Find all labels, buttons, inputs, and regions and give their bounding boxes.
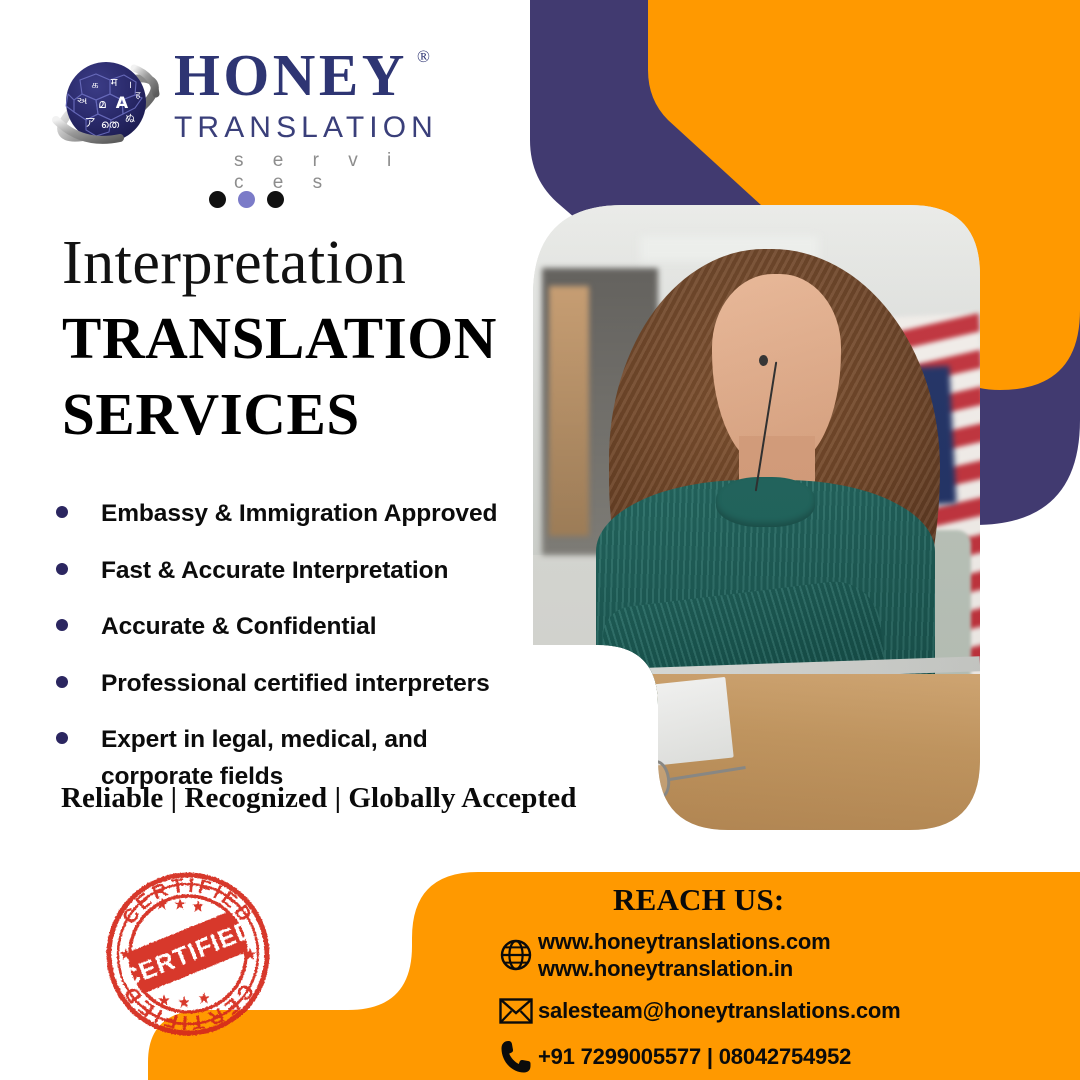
list-item: Fast & Accurate Interpretation (56, 553, 526, 590)
bullet-dot-icon (56, 732, 68, 744)
contact-email[interactable]: salesteam@honeytranslations.com (538, 997, 901, 1025)
contact-website-2[interactable]: www.honeytranslation.in (538, 956, 793, 981)
bullet-dot-icon (56, 506, 68, 518)
svg-text:ア: ア (85, 116, 96, 129)
svg-text:க: க (91, 78, 98, 91)
contact-details: www.honeytranslations.com www.honeytrans… (494, 928, 1054, 1080)
svg-text:म: म (111, 76, 118, 89)
contact-phone[interactable]: +91 7299005577 | 08042754952 (538, 1043, 851, 1071)
certified-stamp-icon: CERTIFIED CERTIFIED (102, 868, 274, 1040)
brand-logo[interactable]: க म । અ മ A ह ア തെ ぬ HONEY ® TRANSLATION… (52, 46, 412, 176)
decor-dot-1 (209, 191, 226, 208)
contact-website-block: www.honeytranslations.com www.honeytrans… (538, 928, 830, 983)
feature-list: Embassy & Immigration Approved Fast & Ac… (56, 496, 526, 795)
list-item: Accurate & Confidential (56, 609, 526, 646)
logo-line-translation: TRANSLATION (174, 110, 438, 145)
contact-row-email[interactable]: salesteam@honeytranslations.com (494, 996, 1054, 1026)
registered-trademark-icon: ® (417, 48, 430, 65)
svg-text:અ: અ (77, 96, 88, 107)
envelope-icon (494, 996, 538, 1026)
bullet-dot-icon (56, 563, 68, 575)
bullet-dot-icon (56, 676, 68, 688)
logo-brand-text: HONEY (174, 42, 408, 108)
phone-icon (494, 1039, 538, 1075)
list-item-label: Accurate & Confidential (101, 609, 376, 646)
logo-brand-name: HONEY ® (174, 46, 408, 105)
contact-row-website[interactable]: www.honeytranslations.com www.honeytrans… (494, 928, 1054, 983)
headline-script-line: Interpretation (62, 232, 497, 295)
tagline: Reliable | Recognized | Globally Accepte… (61, 782, 576, 815)
contact-row-phone[interactable]: +91 7299005577 | 08042754952 (494, 1039, 1054, 1075)
svg-text:തെ: തെ (101, 118, 120, 131)
list-item-label: Embassy & Immigration Approved (101, 496, 497, 533)
globe-languages-icon: க म । અ മ A ह ア തെ ぬ (52, 50, 164, 162)
bullet-dot-icon (56, 619, 68, 631)
globe-icon (494, 937, 538, 973)
decor-dot-2 (238, 191, 255, 208)
svg-text:ぬ: ぬ (125, 113, 135, 125)
reach-us-heading: REACH US: (613, 882, 784, 918)
logo-line-services: s e r v i c e s (234, 150, 438, 194)
list-item-label: Professional certified interpreters (101, 666, 490, 703)
contact-website-1[interactable]: www.honeytranslations.com (538, 929, 830, 954)
list-item: Embassy & Immigration Approved (56, 496, 526, 533)
headline-bold-line-2: SERVICES (62, 381, 497, 447)
list-item-label: Fast & Accurate Interpretation (101, 553, 448, 590)
svg-text:A: A (116, 93, 129, 112)
svg-text:ह: ह (136, 91, 141, 101)
decor-dot-3 (267, 191, 284, 208)
svg-text:മ: മ (98, 97, 106, 111)
list-item: Professional certified interpreters (56, 666, 526, 703)
headline-block: Interpretation TRANSLATION SERVICES (62, 232, 497, 447)
poster-canvas: க म । અ മ A ह ア തെ ぬ HONEY ® TRANSLATION… (0, 0, 1080, 1080)
logo-decor-dots (209, 191, 284, 208)
headline-bold-line-1: TRANSLATION (62, 305, 497, 371)
svg-text:।: । (128, 80, 132, 91)
